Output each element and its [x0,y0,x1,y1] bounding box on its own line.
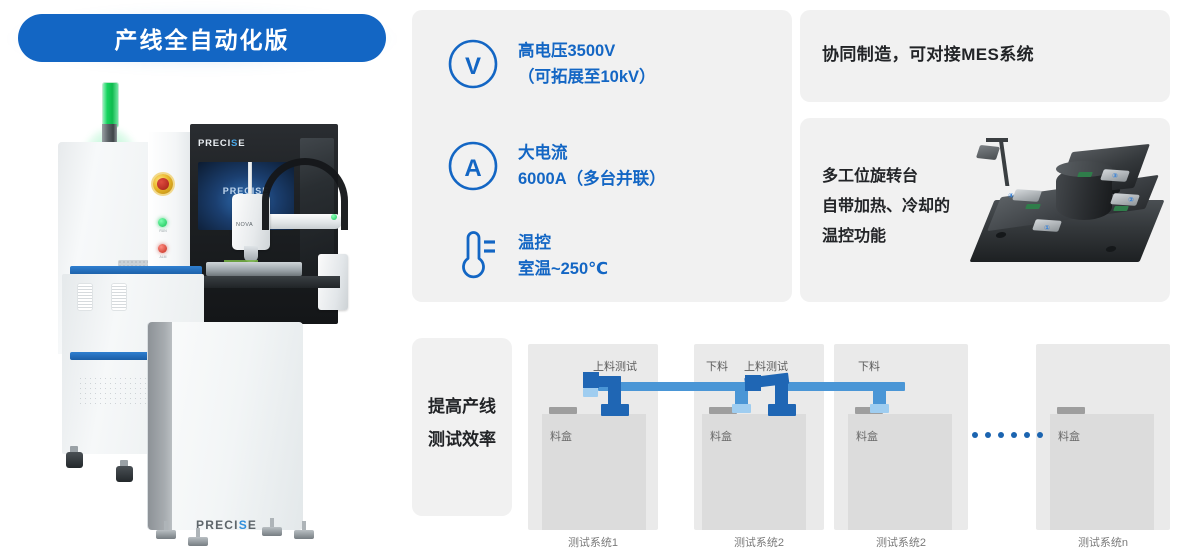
spec-temp-line1: 温控 [518,230,608,256]
ellipsis-dot [998,432,1004,438]
station-pcb-left [1025,204,1041,209]
flow-heading-text: 提高产线 测试效率 [428,390,496,456]
emergency-stop-button[interactable] [153,174,173,194]
system-n-tray-label: 料盒 [1058,428,1080,444]
rotary-table-panel: 多工位旋转台 自带加热、冷却的 温控功能 ① ② ③ ④ [800,118,1170,302]
rotary-line3: 温控功能 [822,222,950,252]
fixture-2 [1110,193,1140,206]
flow-heading-line1: 提高产线 [428,390,496,423]
rotary-text: 多工位旋转台 自带加热、冷却的 温控功能 [822,162,950,252]
status-lamp-green-icon [158,218,167,227]
flow-heading-panel: 提高产线 测试效率 [412,338,512,516]
leveling-foot-1 [156,521,176,539]
svg-text:A: A [464,155,481,182]
arm4-label: 下料 [858,358,880,374]
rotary-line1: 多工位旋转台 [822,162,950,192]
machine-vent-right [112,284,126,310]
spec-item-voltage: V 高电压3500V （可拓展至10kV） [442,36,656,92]
ellipsis-dot [1037,432,1043,438]
spec-panel: V 高电压3500V （可拓展至10kV） A 大电流 6000A（多台并联） [412,10,792,302]
rotary-line2: 自带加热、冷却的 [822,192,950,222]
callout-4: ④ [1008,192,1014,200]
status-lamp-red-icon [158,244,167,253]
poster-root: 产线全自动化版 PRECISE PRECISE NOVA RUN [0,0,1180,552]
arm1-pad [583,388,598,397]
arm1-gripper [601,404,629,416]
system-1-tray-label: 料盒 [550,428,572,444]
robot-badge-label: NOVA [236,222,253,228]
caster-wheel-2 [116,460,133,482]
spec-temperature-text: 温控 室温~250℃ [518,230,608,282]
ellipsis-dot [1011,432,1017,438]
leveling-foot-2 [188,528,208,546]
system-n-label: 测试系统n [1036,534,1170,550]
mes-text: 协同制造，可对接MES系统 [822,40,1034,65]
status-lamp-green-label: RUN [154,229,172,234]
mes-panel: 协同制造，可对接MES系统 [800,10,1170,102]
svg-text:V: V [465,53,481,80]
machine-photo: PRECISE PRECISE NOVA RUN ALM PRECISE [0,66,400,552]
system-2-tray-label: 料盒 [710,428,732,444]
machine-front-cabinet-side [148,322,172,530]
spec-item-temperature: 温控 室温~250℃ [442,228,608,284]
arm3-gripper [768,404,796,416]
arm3-elbow [745,375,761,391]
ammeter-icon: A [442,138,504,194]
status-lamp-red-label: ALM [154,255,172,260]
voltmeter-icon: V [442,36,504,92]
spec-voltage-text: 高电压3500V （可拓展至10kV） [518,38,656,90]
camera-arm-vertical [999,138,1010,186]
callout-3: ③ [1112,172,1118,180]
drum-indicator [1077,172,1093,177]
spec-temp-line2: 室温~250℃ [518,256,608,282]
spec-item-current: A 大电流 6000A（多台并联） [442,138,666,194]
callout-2: ② [1128,196,1134,204]
spec-voltage-line1: 高电压3500V [518,38,656,64]
flow-heading-line2: 测试效率 [428,423,496,456]
system-1-tray-tab [549,407,577,414]
spec-current-line1: 大电流 [518,140,666,166]
callout-1: ① [1044,224,1050,232]
controller-status-lamp-icon [331,214,337,220]
arm2-label: 下料 [706,358,728,374]
ellipsis-dot [972,432,978,438]
thermometer-icon [442,228,504,284]
arm1-elbow [583,372,599,388]
camera-arm-horizontal [986,138,1008,142]
arm2-pad [732,404,751,413]
machine-vent-left [78,284,92,310]
system-n-tray-tab [1057,407,1085,414]
system-2-label: 测试系统2 [694,534,824,550]
caster-wheel-1 [66,446,83,468]
ellipsis-dot [985,432,991,438]
machine-perforated-panel [78,376,146,408]
signal-tower-green-icon [102,82,119,128]
title-badge-wrapper: 产线全自动化版 [18,14,386,62]
work-stage-base [190,276,340,288]
arm4-pad [870,404,889,413]
spec-current-text: 大电流 6000A（多台并联） [518,140,666,192]
arm3-label: 上料测试 [744,358,788,374]
rotary-table-illustration: ① ② ③ ④ [960,128,1164,292]
fixture-4 [1012,189,1042,202]
spec-voltage-line2: （可拓展至10kV） [518,64,656,90]
machine-brand-top: PRECISE [198,138,245,149]
station-pcb-right [1113,206,1129,211]
system-3-label: 测试系统2 [834,534,968,550]
leveling-foot-3 [262,518,282,536]
system-3-tray-label: 料盒 [856,428,878,444]
leveling-foot-4 [294,521,314,539]
system-1-label: 测试系统1 [528,534,658,550]
flow-ellipsis [972,432,1043,438]
arm1-label: 上料测试 [593,358,637,374]
spec-current-line2: 6000A（多台并联） [518,166,666,192]
camera-head [976,145,1000,160]
title-badge-label: 产线全自动化版 [115,21,290,55]
ellipsis-dot [1024,432,1030,438]
machine-brand-top-label: PRECISE [198,138,245,149]
work-stage-plate [206,262,302,276]
title-badge: 产线全自动化版 [18,14,386,62]
